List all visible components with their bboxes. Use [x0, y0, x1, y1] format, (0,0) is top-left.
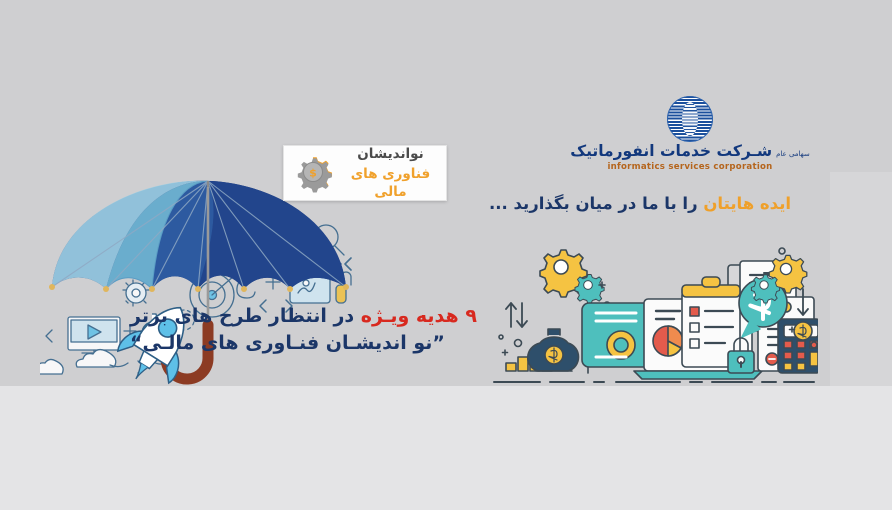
share-ideas-headline: ایده هایتان را با ما در میان بگذارید ... [470, 194, 810, 213]
company-name-en: informatics services corporation [596, 162, 784, 172]
svg-text:$: $ [309, 166, 317, 179]
prizes-count-highlight: ۹ هدیه ویـژه [361, 305, 477, 327]
prizes-headline: ۹ هدیه ویـژه در انتظار طرح های برتر ”نو … [130, 304, 490, 357]
banner-canvas: a+b [0, 0, 892, 510]
company-logo-block: سهامی عام شـرکت خدمات انفورماتیک informa… [596, 96, 784, 166]
prizes-headline-rest: در انتظار طرح های برتر [130, 305, 361, 327]
company-name-fa: سهامی عام شـرکت خدمات انفورماتیک [596, 143, 784, 160]
prizes-headline-line-2: ”نو اندیشـان فنـاوری های مالـی“ [130, 330, 490, 358]
prizes-headline-line-1: ۹ هدیه ویـژه در انتظار طرح های برتر [130, 304, 490, 330]
lower-panel [0, 386, 892, 510]
company-type-fa: سهامی عام [776, 151, 810, 159]
badge-text: نواندیشان فناوری های مالی [343, 145, 438, 202]
umbrella-ideas-illustration: a+b [40, 175, 390, 390]
badge-line-2: فناوری های مالی [343, 165, 438, 201]
headline-highlight: ایده هایتان [703, 194, 791, 213]
headline-rest: را با ما در میان بگذارید ... [489, 194, 703, 213]
fintech-right-cluster [660, 245, 820, 380]
company-name-fa-text: شـرکت خدمات انفورماتیک [570, 143, 772, 160]
fintech-program-badge[interactable]: $ نواندیشان فناوری های مالی [283, 145, 447, 201]
right-side-strip [830, 172, 892, 386]
striped-globe-logo-icon [667, 96, 713, 142]
badge-line-1: نواندیشان [343, 145, 438, 163]
ground-line [492, 371, 818, 379]
gear-dollar-icon: $ [294, 153, 334, 193]
